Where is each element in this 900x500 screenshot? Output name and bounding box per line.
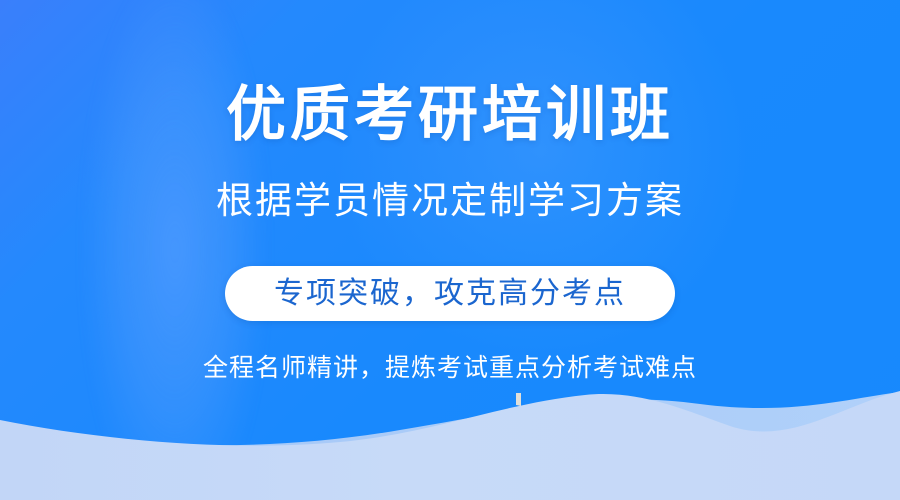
banner-tagline: 全程名师精讲，提炼考试重点分析考试难点 xyxy=(0,350,900,386)
highlight-pill[interactable]: 专项突破，攻克高分考点 xyxy=(225,266,675,321)
page-title: 优质考研培训班 xyxy=(0,79,900,151)
banner-subtitle: 根据学员情况定制学习方案 xyxy=(0,177,900,225)
banner-content: 优质考研培训班 根据学员情况定制学习方案 专项突破，攻克高分考点 全程名师精讲，… xyxy=(0,0,900,500)
highlight-pill-label: 专项突破，攻克高分考点 xyxy=(274,277,626,311)
promo-banner: 优质考研培训班 根据学员情况定制学习方案 专项突破，攻克高分考点 全程名师精讲，… xyxy=(0,0,900,500)
